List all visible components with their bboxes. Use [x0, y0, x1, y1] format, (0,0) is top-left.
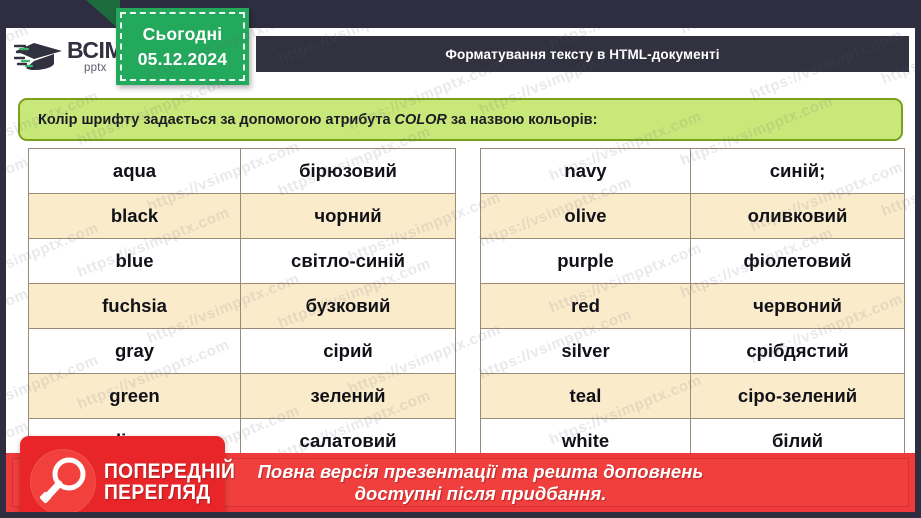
color-description-cell: сірий [241, 329, 456, 374]
color-name-cell: silver [481, 329, 691, 374]
slide-canvas: ВСІМ pptx Форматування тексту в HTML-док… [6, 28, 915, 512]
brand-name: ВСІМ [67, 39, 123, 62]
color-description-cell: синій; [691, 149, 905, 194]
color-description-cell: срібдястий [691, 329, 905, 374]
table-row: aquaбірюзовий [29, 149, 456, 194]
preview-badge-words: ПОПЕРЕДНІЙ ПЕРЕГЛЯД [104, 461, 247, 504]
color-name-cell: aqua [29, 149, 241, 194]
table-row: tealсіро-зелений [481, 374, 905, 419]
subtitle-part-before: Колір шрифту задається за допомогою атри… [38, 112, 395, 128]
table-row: redчервоний [481, 284, 905, 329]
color-description-cell: зелений [241, 374, 456, 419]
table-row: greenзелений [29, 374, 456, 419]
color-description-cell: фіолетовий [691, 239, 905, 284]
preview-badge-line1: ПОПЕРЕДНІЙ [104, 461, 235, 482]
preview-badge-line2: ПЕРЕГЛЯД [104, 482, 235, 503]
color-name-cell: fuchsia [29, 284, 241, 329]
color-description-cell: червоний [691, 284, 905, 329]
color-name-cell: navy [481, 149, 691, 194]
page-title: Форматування тексту в HTML-документі [445, 47, 719, 62]
color-name-cell: red [481, 284, 691, 329]
table-row: grayсірий [29, 329, 456, 374]
today-label: Сьогодні [143, 24, 223, 45]
ribbon-fold-decoration [86, 0, 120, 30]
table-row: silverсрібдястий [481, 329, 905, 374]
color-name-cell: blue [29, 239, 241, 284]
subtitle-part-after: за назвою кольорів: [447, 112, 598, 128]
today-date: 05.12.2024 [138, 49, 228, 70]
subtitle-band: Колір шрифту задається за допомогою атри… [18, 98, 903, 141]
color-description-cell: оливковий [691, 194, 905, 239]
purchase-banner-line1: Повна версія презентації та решта доповн… [258, 461, 704, 483]
color-description-cell: бірюзовий [241, 149, 456, 194]
table-row: oliveоливковий [481, 194, 905, 239]
slide-title-bar: Форматування тексту в HTML-документі [256, 36, 909, 72]
color-description-cell: бузковий [241, 284, 456, 329]
subtitle-text: Колір шрифту задається за допомогою атри… [38, 112, 597, 128]
preview-badge[interactable]: ПОПЕРЕДНІЙ ПЕРЕГЛЯД [20, 436, 225, 512]
color-name-cell: purple [481, 239, 691, 284]
purchase-banner-line2: доступні після придбання. [258, 483, 704, 505]
purchase-banner-text: Повна версія презентації та решта доповн… [218, 461, 704, 505]
color-description-cell: світло-синій [241, 239, 456, 284]
slide-root: ВСІМ pptx Форматування тексту в HTML-док… [0, 0, 921, 518]
table-row: blueсвітло-синій [29, 239, 456, 284]
table-row: purpleфіолетовий [481, 239, 905, 284]
color-description-cell: чорний [241, 194, 456, 239]
color-name-cell: gray [29, 329, 241, 374]
preview-badge-circle [30, 449, 96, 512]
today-date-card-inner: Сьогодні 05.12.2024 [116, 8, 249, 85]
subtitle-attribute-name: COLOR [395, 112, 447, 128]
brand-wordmark: ВСІМ pptx [67, 39, 123, 75]
table-row: fuchsiaбузковий [29, 284, 456, 329]
magnifier-icon [30, 449, 96, 512]
table-row: blackчорний [29, 194, 456, 239]
table-row: navyсиній; [481, 149, 905, 194]
color-name-cell: green [29, 374, 241, 419]
graduation-cap-icon [14, 37, 66, 77]
color-description-cell: сіро-зелений [691, 374, 905, 419]
today-date-card: Сьогодні 05.12.2024 [116, 8, 249, 85]
color-name-cell: teal [481, 374, 691, 419]
color-name-cell: black [29, 194, 241, 239]
color-name-cell: olive [481, 194, 691, 239]
